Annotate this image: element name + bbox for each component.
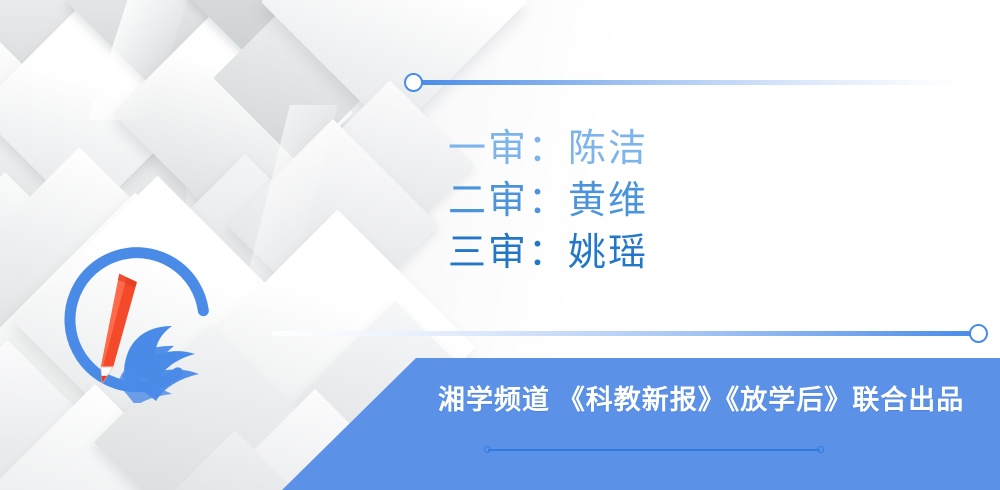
credit-role-3: 三审：: [448, 230, 568, 274]
banner-rule-knob-right: [817, 446, 824, 453]
credit-line-1: 一审：陈洁: [448, 122, 868, 174]
credit-name-3: 姚瑶: [568, 230, 648, 274]
connector-bar: [272, 331, 974, 336]
credit-line-3: 三审：姚瑶: [448, 226, 868, 278]
credit-role-1: 一审：: [448, 126, 568, 170]
banner-rule-knob-left: [484, 446, 491, 453]
credit-line-2: 二审：黄维: [448, 174, 868, 226]
connector-line-top: [404, 78, 970, 87]
credit-name-2: 黄维: [568, 178, 648, 222]
banner-text: 湘学频道 《科教新报》《放学后》联合出品: [438, 378, 964, 417]
connector-line-bottom: [272, 329, 988, 338]
credit-role-2: 二审：: [448, 178, 568, 222]
connector-knob: [404, 73, 423, 92]
connector-bar: [418, 80, 970, 85]
bottom-banner: 湘学频道 《科教新报》《放学后》联合出品: [0, 358, 1000, 490]
banner-rule: [484, 446, 824, 453]
banner-rule-bar: [488, 449, 820, 451]
credits-card: 一审：陈洁 二审：黄维 三审：姚瑶 湘学频道 《科教新报》《放学后》联合出品: [0, 0, 1000, 490]
credit-name-1: 陈洁: [568, 126, 648, 170]
connector-knob: [969, 324, 988, 343]
credits-list: 一审：陈洁 二审：黄维 三审：姚瑶: [448, 122, 868, 278]
